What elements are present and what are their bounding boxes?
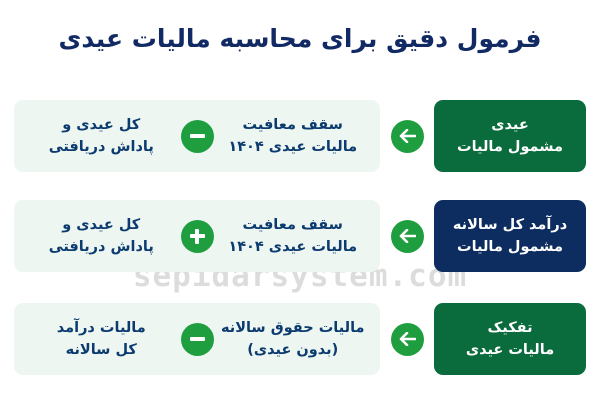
minus-icon (181, 323, 214, 356)
result-box-3: تفکیک مالیات عیدی (434, 303, 586, 375)
term-left-2-line-2: پاداش دریافتی (49, 239, 154, 255)
arrow-left-icon (391, 323, 424, 356)
term-right-3: مالیات حقوق سالانه (بدون عیدی) (220, 317, 367, 362)
formula-row-2: درآمد کل سالانه مشمول مالیات سقف معافیت … (0, 200, 600, 272)
minus-icon (181, 120, 214, 153)
term-right-2-line-1: سقف معافیت (243, 217, 343, 233)
equation-2: سقف معافیت مالیات عیدی ۱۴۰۴ کل عیدی و پا… (14, 200, 380, 272)
result-line-1: تفکیک (487, 320, 532, 336)
term-right-1: سقف معافیت مالیات عیدی ۱۴۰۴ (220, 114, 367, 159)
term-right-1-line-1: سقف معافیت (243, 117, 343, 133)
result-line-2: مشمول مالیات (457, 239, 563, 255)
result-line-2: مشمول مالیات (457, 139, 563, 155)
term-right-2-line-2: مالیات عیدی ۱۴۰۴ (228, 239, 357, 255)
term-right-3-line-2: (بدون عیدی) (247, 342, 338, 358)
result-line-1: عیدی (491, 117, 529, 133)
plus-icon (181, 220, 214, 253)
equation-3: مالیات حقوق سالانه (بدون عیدی) مالیات در… (14, 303, 380, 375)
term-left-1-line-1: کل عیدی و (62, 117, 140, 133)
term-left-3-line-2: کل سالانه (66, 342, 137, 358)
arrow-left-icon (391, 120, 424, 153)
term-left-1: کل عیدی و پاداش دریافتی (28, 114, 175, 159)
term-left-3: مالیات درآمد کل سالانه (28, 317, 175, 362)
term-left-3-line-1: مالیات درآمد (57, 320, 146, 336)
result-line-1: درآمد کل سالانه (453, 217, 567, 233)
term-left-2: کل عیدی و پاداش دریافتی (28, 214, 175, 259)
result-box-2: درآمد کل سالانه مشمول مالیات (434, 200, 586, 272)
arrow-wrap-1 (380, 120, 434, 153)
arrow-left-icon (391, 220, 424, 253)
arrow-wrap-2 (380, 220, 434, 253)
equation-1: سقف معافیت مالیات عیدی ۱۴۰۴ کل عیدی و پا… (14, 100, 380, 172)
formula-row-1: عیدی مشمول مالیات سقف معافیت مالیات عیدی… (0, 100, 600, 172)
term-left-1-line-2: پاداش دریافتی (49, 139, 154, 155)
arrow-wrap-3 (380, 323, 434, 356)
result-box-1: عیدی مشمول مالیات (434, 100, 586, 172)
page-title: فرمول دقیق برای محاسبه مالیات عیدی (0, 22, 600, 56)
term-right-1-line-2: مالیات عیدی ۱۴۰۴ (228, 139, 357, 155)
term-right-2: سقف معافیت مالیات عیدی ۱۴۰۴ (220, 214, 367, 259)
result-line-2: مالیات عیدی (466, 342, 554, 358)
term-left-2-line-1: کل عیدی و (62, 217, 140, 233)
term-right-3-line-1: مالیات حقوق سالانه (221, 320, 365, 336)
formula-row-3: تفکیک مالیات عیدی مالیات حقوق سالانه (بد… (0, 303, 600, 375)
